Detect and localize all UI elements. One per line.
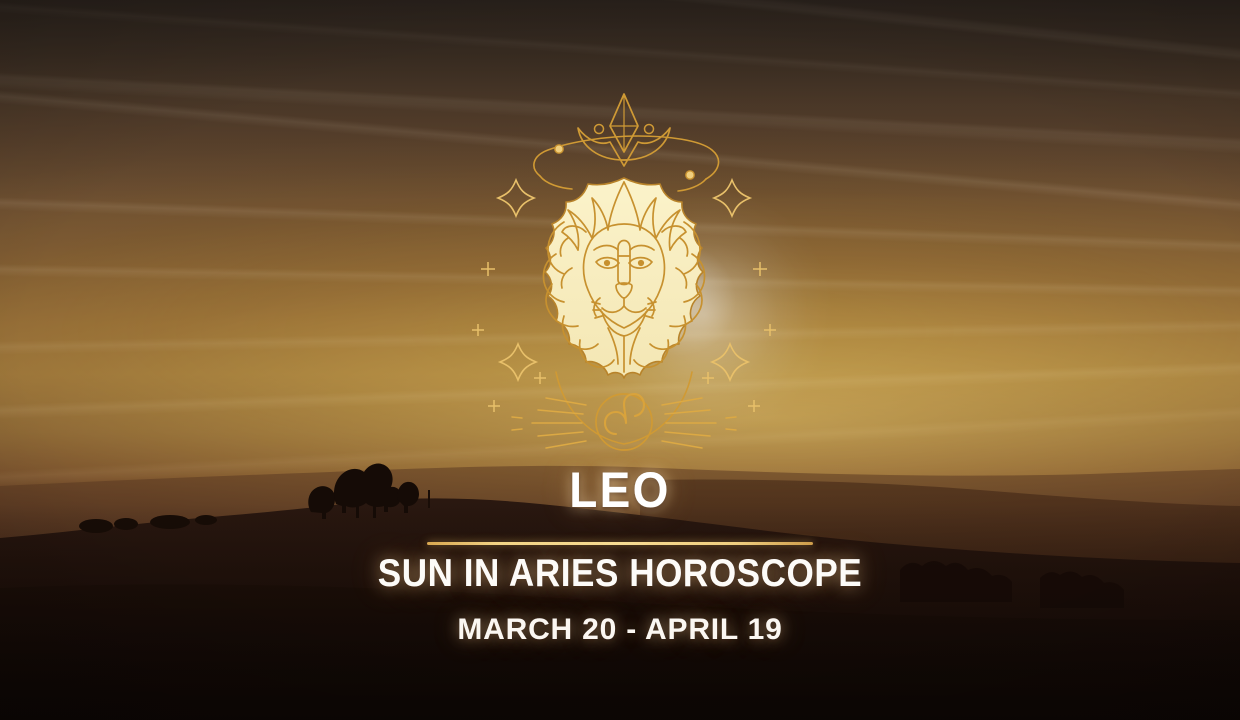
sparkle-icon (500, 344, 536, 380)
rays-left (512, 398, 586, 448)
date-range-label: MARCH 20 - APRIL 19 (0, 612, 1240, 648)
horoscope-subtitle: SUN IN ARIES HOROSCOPE (62, 552, 1178, 596)
sparkle-icon (714, 180, 750, 216)
gold-divider (427, 542, 813, 545)
page-title: LEO (50, 462, 1191, 518)
leo-lion-emblem (468, 72, 780, 464)
rays-right (662, 398, 736, 448)
divider-wrapper (0, 532, 1240, 536)
sparkle-icon (712, 344, 748, 380)
horoscope-banner: LEO SUN IN ARIES HOROSCOPE MARCH 20 - AP… (0, 0, 1240, 720)
lion-head (544, 178, 705, 378)
banner-text-block: LEO SUN IN ARIES HOROSCOPE MARCH 20 - AP… (0, 462, 1240, 648)
sparkle-icon (498, 180, 534, 216)
crown-icon (578, 94, 670, 166)
leo-glyph-medallion (596, 394, 652, 450)
